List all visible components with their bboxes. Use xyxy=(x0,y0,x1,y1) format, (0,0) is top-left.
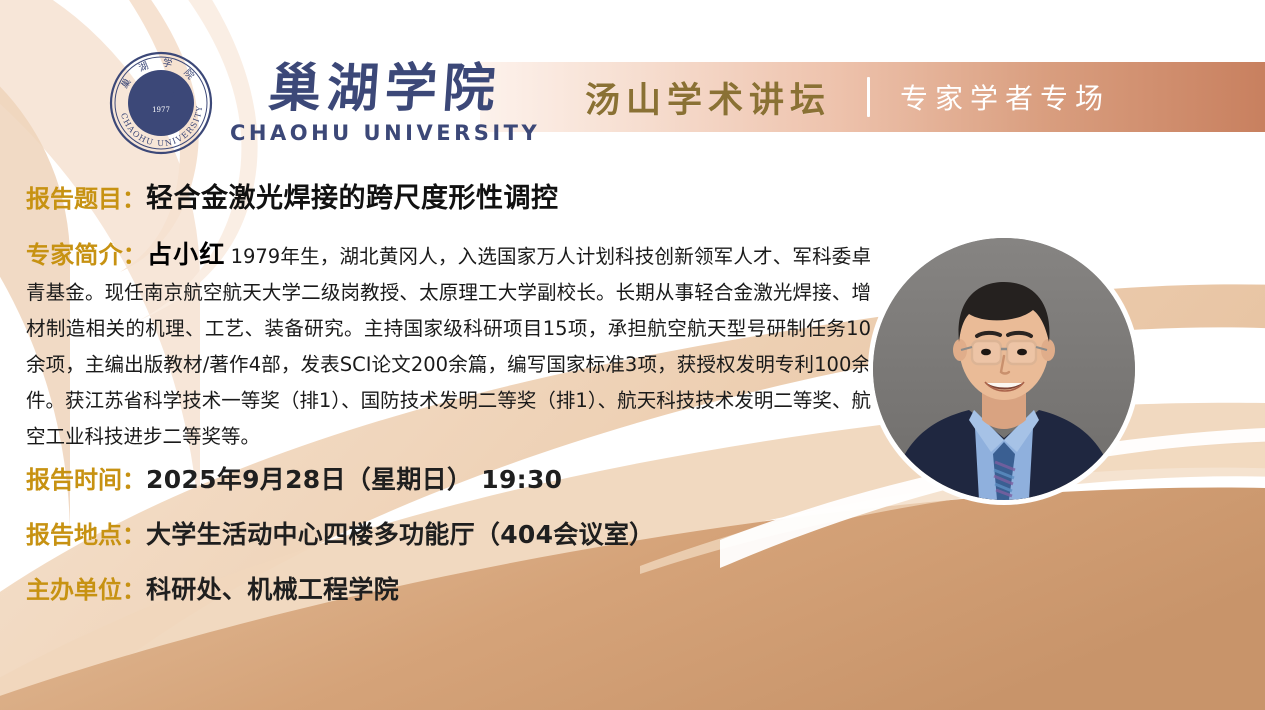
value-host-organizer: 科研处、机械工程学院 xyxy=(146,570,399,606)
speaker-name: 占小红 xyxy=(147,240,226,269)
label-host-organizer: 主办单位： xyxy=(26,570,146,605)
speaker-bio-body: 专家简介：占小红1979年生，湖北黄冈人，入选国家万人计划科技创新领军人才、军科… xyxy=(26,237,871,455)
speaker-bio-text: 1979年生，湖北黄冈人，入选国家万人计划科技创新领军人才、军科委卓青基金。现任… xyxy=(26,245,871,448)
university-name-block: 巢湖学院 CHAOHU UNIVERSITY xyxy=(230,63,540,144)
speaker-portrait xyxy=(873,238,1135,500)
row-lecture-place: 报告地点： 大学生活动中心四楼多功能厅（404会议室） xyxy=(26,515,655,551)
label-lecture-time: 报告时间： xyxy=(26,460,146,495)
university-logo: 1977 巢 湖 学 院 CHAOHU UNIVERSITY 巢湖学院 CHAO… xyxy=(108,50,540,156)
row-speaker-bio: 专家简介：占小红1979年生，湖北黄冈人，入选国家万人计划科技创新领军人才、军科… xyxy=(26,237,871,455)
lecture-poster: 汤山学术讲坛 专家学者专场 1977 巢 湖 学 院 xyxy=(0,0,1265,710)
row-lecture-title: 报告题目： 轻合金激光焊接的跨尺度形性调控 xyxy=(26,176,559,215)
row-lecture-time: 报告时间： 2025年9月28日（星期日） 19:30 xyxy=(26,460,562,496)
label-speaker-bio: 专家简介： xyxy=(26,241,147,269)
value-lecture-place: 大学生活动中心四楼多功能厅（404会议室） xyxy=(146,515,655,551)
banner-divider xyxy=(867,77,870,117)
banner-main-title: 汤山学术讲坛 xyxy=(585,72,831,123)
svg-text:1977: 1977 xyxy=(152,106,170,114)
poster-header: 汤山学术讲坛 专家学者专场 1977 巢 湖 学 院 xyxy=(0,0,1265,160)
event-banner: 汤山学术讲坛 专家学者专场 xyxy=(480,62,1265,132)
value-lecture-time: 2025年9月28日（星期日） 19:30 xyxy=(146,460,562,496)
row-host-organizer: 主办单位： 科研处、机械工程学院 xyxy=(26,570,399,606)
university-name-cn: 巢湖学院 xyxy=(267,63,503,115)
university-name-en: CHAOHU UNIVERSITY xyxy=(230,123,540,144)
university-seal-icon: 1977 巢 湖 学 院 CHAOHU UNIVERSITY xyxy=(108,50,214,156)
label-lecture-place: 报告地点： xyxy=(26,515,146,550)
value-lecture-title: 轻合金激光焊接的跨尺度形性调控 xyxy=(146,176,559,215)
banner-subtitle: 专家学者专场 xyxy=(900,77,1110,117)
label-lecture-title: 报告题目： xyxy=(26,179,146,214)
